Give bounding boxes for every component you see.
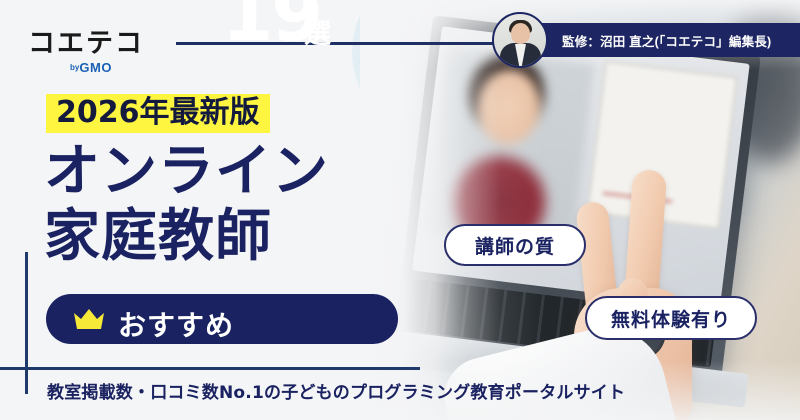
- headline-line-1: オンライン: [44, 140, 329, 205]
- brand-logo-gmo: GMO: [79, 60, 112, 75]
- crown-icon: [72, 307, 106, 331]
- brand-logo-by: by: [70, 63, 79, 72]
- vertical-accent-rule: [25, 252, 28, 394]
- year-badge: 2026年最新版: [46, 94, 270, 133]
- year-highlight: 2026年最新版: [46, 94, 270, 133]
- callout-free-trial: 無料体験有り: [585, 296, 757, 340]
- recommend-pill: おすすめ: [46, 294, 398, 344]
- headline-line-2: 家庭教師: [44, 205, 329, 270]
- year-text: 2026年最新版: [56, 95, 260, 130]
- supervisor-bar: 監修：沼田 直之(「コエテコ」編集長): [520, 23, 800, 57]
- brand-logo-parent: byGMO: [28, 61, 154, 74]
- recommend-suffix: 選: [304, 12, 331, 51]
- avatar-head: [511, 23, 530, 44]
- tagline: 教室掲載数・口コミ数No.1の子どものプログラミング教育ポータルサイト: [47, 378, 625, 403]
- supervisor-label: 監修：沼田 直之(「コエテコ」編集長): [562, 31, 771, 50]
- recommend-label: おすすめ: [118, 304, 234, 344]
- brand-logo[interactable]: コエテコ byGMO: [28, 30, 154, 74]
- brand-logo-text: コエテコ: [28, 30, 154, 57]
- avatar: [492, 12, 548, 68]
- page-title: オンライン 家庭教師: [44, 140, 329, 270]
- promo-banner: コエテコ byGMO 監修：沼田 直之(「コエテコ」編集長) 2026年最新版 …: [0, 0, 800, 420]
- horizontal-accent-rule: [0, 367, 420, 370]
- hero-photo: [360, 0, 800, 420]
- callout-instructor-quality: 講師の質: [444, 224, 586, 266]
